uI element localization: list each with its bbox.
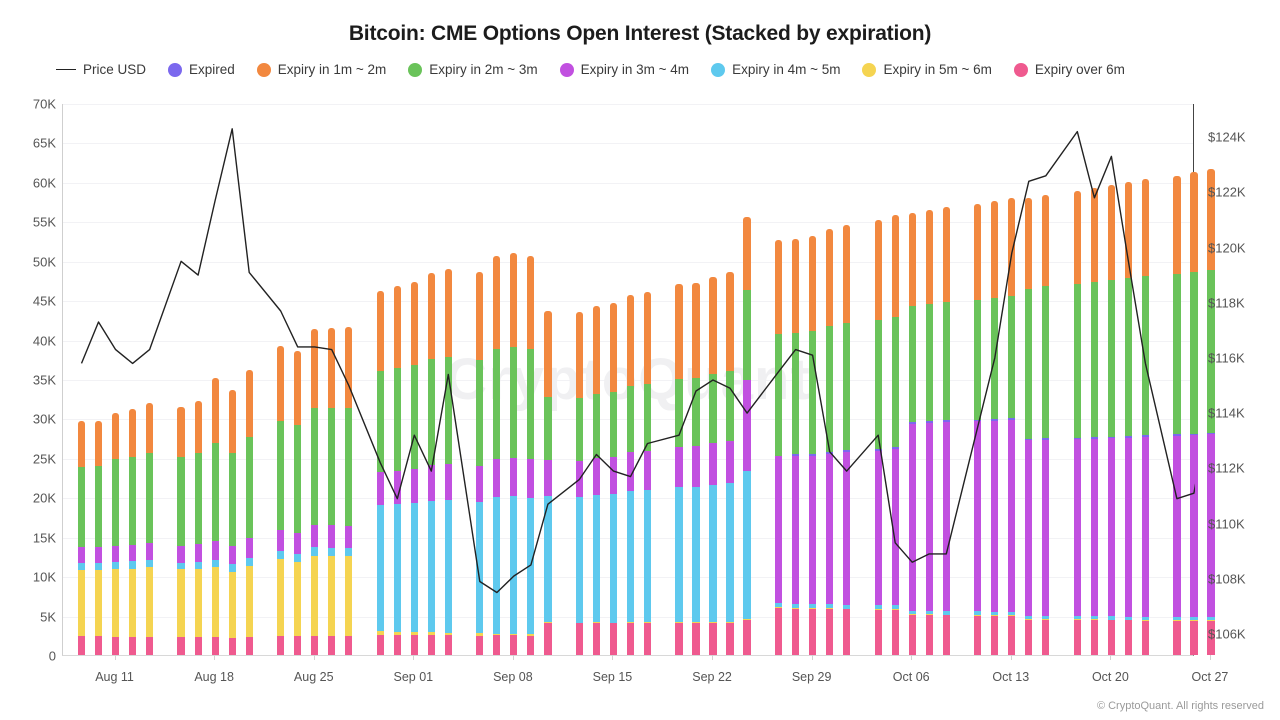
x-tick-label: Sep 08: [493, 670, 533, 684]
x-tick-mark: [911, 655, 912, 660]
legend-item-expiry-over-6m[interactable]: Expiry over 6m: [1014, 62, 1125, 77]
legend-label: Price USD: [83, 62, 146, 77]
legend-item-expiry-in-2m-3m[interactable]: Expiry in 2m ~ 3m: [408, 62, 537, 77]
line-marker-icon: [56, 69, 76, 70]
legend-label: Expiry in 2m ~ 3m: [429, 62, 537, 77]
y-tick-label-left: 50K: [33, 254, 56, 269]
plot-area: CryptoQuant: [62, 104, 1194, 656]
x-axis: Aug 11Aug 18Aug 25Sep 01Sep 08Sep 15Sep …: [62, 660, 1194, 686]
legend-item-expiry-in-4m-5m[interactable]: Expiry in 4m ~ 5m: [711, 62, 840, 77]
copyright-footer: © CryptoQuant. All rights reserved: [1097, 700, 1264, 712]
price-line-path: [82, 129, 1196, 593]
x-tick-mark: [1110, 655, 1111, 660]
circle-swatch-icon: [1014, 63, 1028, 77]
x-tick-label: Oct 20: [1092, 670, 1129, 684]
y-tick-label-left: 25K: [33, 451, 56, 466]
y-tick-label-left: 40K: [33, 333, 56, 348]
x-tick-mark: [314, 655, 315, 660]
circle-swatch-icon: [711, 63, 725, 77]
x-tick-mark: [513, 655, 514, 660]
x-tick-label: Sep 15: [593, 670, 633, 684]
y-tick-label-left: 55K: [33, 215, 56, 230]
x-tick-mark: [1011, 655, 1012, 660]
x-tick-label: Oct 06: [893, 670, 930, 684]
chart-root: Bitcoin: CME Options Open Interest (Stac…: [0, 0, 1280, 720]
y-tick-label-right: $112K: [1208, 461, 1245, 476]
chart-legend: Price USDExpiredExpiry in 1m ~ 2mExpiry …: [56, 62, 1236, 77]
circle-swatch-icon: [408, 63, 422, 77]
y-axis-left: 05K10K15K20K25K30K35K40K45K50K55K60K65K7…: [0, 104, 56, 656]
y-tick-label-right: $116K: [1208, 350, 1245, 365]
x-tick-mark: [214, 655, 215, 660]
x-tick-label: Oct 27: [1192, 670, 1229, 684]
y-tick-label-left: 65K: [33, 136, 56, 151]
x-tick-label: Sep 22: [692, 670, 732, 684]
y-axis-right: $106K$108K$110K$112K$114K$116K$118K$120K…: [1200, 104, 1278, 656]
y-tick-label-left: 20K: [33, 491, 56, 506]
legend-label: Expiry in 5m ~ 6m: [883, 62, 991, 77]
legend-item-expiry-in-5m-6m[interactable]: Expiry in 5m ~ 6m: [862, 62, 991, 77]
x-tick-mark: [812, 655, 813, 660]
legend-item-expired[interactable]: Expired: [168, 62, 235, 77]
y-tick-label-left: 45K: [33, 294, 56, 309]
y-tick-label-right: $120K: [1208, 240, 1246, 255]
legend-label: Expiry in 1m ~ 2m: [278, 62, 386, 77]
y-tick-label-right: $124K: [1208, 130, 1246, 145]
x-tick-mark: [115, 655, 116, 660]
x-tick-mark: [413, 655, 414, 660]
circle-swatch-icon: [862, 63, 876, 77]
price-line-svg: [63, 104, 1195, 656]
legend-label: Expiry in 3m ~ 4m: [581, 62, 689, 77]
y-tick-label-left: 0: [49, 649, 56, 664]
x-tick-mark: [1210, 655, 1211, 660]
x-tick-label: Aug 18: [194, 670, 234, 684]
x-tick-label: Aug 25: [294, 670, 334, 684]
x-tick-label: Oct 13: [992, 670, 1029, 684]
legend-item-price-usd[interactable]: Price USD: [56, 62, 146, 77]
x-tick-label: Sep 01: [393, 670, 433, 684]
circle-swatch-icon: [168, 63, 182, 77]
legend-label: Expired: [189, 62, 235, 77]
y-tick-label-left: 30K: [33, 412, 56, 427]
y-tick-label-right: $110K: [1208, 516, 1245, 531]
x-tick-mark: [612, 655, 613, 660]
circle-swatch-icon: [257, 63, 271, 77]
y-tick-label-right: $114K: [1208, 406, 1245, 421]
circle-swatch-icon: [560, 63, 574, 77]
y-tick-label-right: $118K: [1208, 295, 1245, 310]
legend-label: Expiry over 6m: [1035, 62, 1125, 77]
y-tick-label-left: 35K: [33, 373, 56, 388]
x-tick-label: Aug 11: [95, 670, 134, 684]
legend-label: Expiry in 4m ~ 5m: [732, 62, 840, 77]
page-title: Bitcoin: CME Options Open Interest (Stac…: [0, 22, 1280, 46]
y-tick-label-left: 60K: [33, 175, 56, 190]
y-tick-label-right: $122K: [1208, 185, 1246, 200]
y-tick-label-left: 5K: [40, 609, 56, 624]
x-tick-mark: [712, 655, 713, 660]
y-tick-label-right: $108K: [1208, 571, 1246, 586]
legend-item-expiry-in-1m-2m[interactable]: Expiry in 1m ~ 2m: [257, 62, 386, 77]
x-tick-label: Sep 29: [792, 670, 832, 684]
y-tick-label-left: 15K: [33, 530, 56, 545]
y-tick-label-left: 10K: [33, 570, 56, 585]
legend-item-expiry-in-3m-4m[interactable]: Expiry in 3m ~ 4m: [560, 62, 689, 77]
y-tick-label-left: 70K: [33, 97, 56, 112]
y-tick-label-right: $106K: [1208, 626, 1246, 641]
price-line-layer: [63, 104, 1193, 655]
